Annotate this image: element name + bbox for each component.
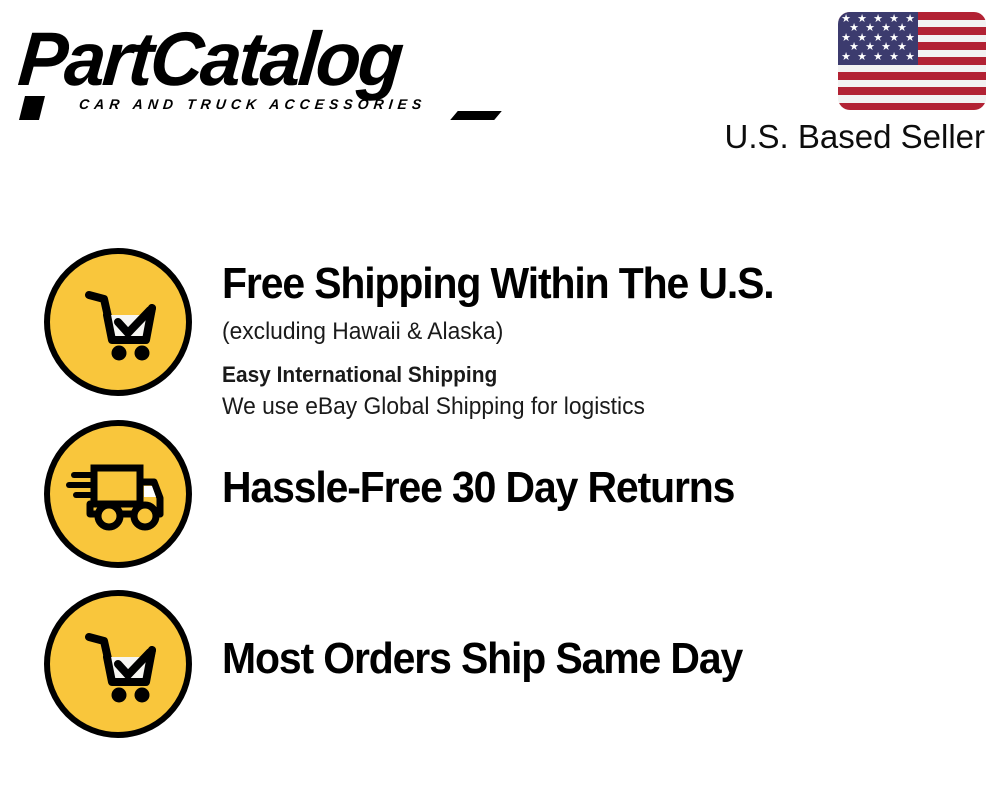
feature-subdetail: We use eBay Global Shipping for logistic…	[222, 390, 944, 423]
feature-row: Most Orders Ship Same Day	[0, 590, 1000, 742]
feature-text-block: Free Shipping Within The U.S. (excluding…	[222, 248, 982, 423]
feature-title: Hassle-Free 30 Day Returns	[222, 462, 929, 514]
logo-wordmark: PartCatalog	[16, 22, 478, 98]
us-based-seller-label: U.S. Based Seller	[725, 118, 985, 156]
feature-subnote: (excluding Hawaii & Alaska)	[222, 315, 944, 348]
feature-subheading: Easy International Shipping	[222, 359, 944, 390]
flag-canton: ★★★★★ ★★★★ ★★★★★ ★★★★ ★★★★★	[838, 12, 918, 65]
feature-row: Free Shipping Within The U.S. (excluding…	[0, 248, 1000, 408]
feature-row: Hassle-Free 30 Day Returns	[0, 420, 1000, 570]
page-header: PartCatalog CAR AND TRUCK ACCESSORIES ★★…	[0, 0, 1000, 175]
fast-delivery-truck-icon	[44, 420, 192, 568]
feature-title: Most Orders Ship Same Day	[222, 633, 929, 685]
logo-tagline: CAR AND TRUCK ACCESSORIES	[78, 96, 492, 112]
brand-logo[interactable]: PartCatalog CAR AND TRUCK ACCESSORIES	[22, 22, 492, 112]
feature-text-block: Most Orders Ship Same Day	[222, 590, 982, 685]
us-flag-icon: ★★★★★ ★★★★ ★★★★★ ★★★★ ★★★★★	[838, 12, 986, 110]
feature-title: Free Shipping Within The U.S.	[222, 258, 929, 310]
feature-text-block: Hassle-Free 30 Day Returns	[222, 420, 982, 514]
shopping-cart-check-icon	[44, 590, 192, 738]
shopping-cart-check-icon	[44, 248, 192, 396]
logo-accent-bar-right	[450, 111, 502, 120]
